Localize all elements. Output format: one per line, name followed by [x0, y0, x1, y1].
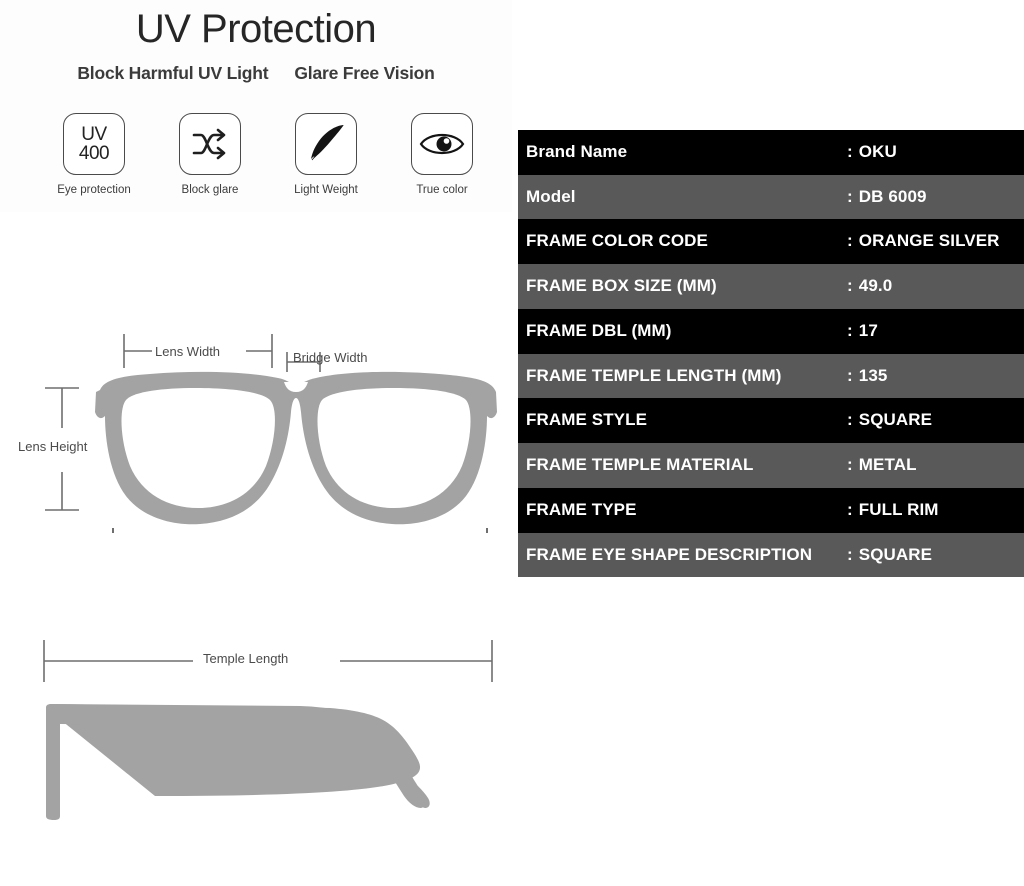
spec-value-text: METAL	[859, 455, 917, 474]
spec-label: FRAME BOX SIZE (MM)	[518, 264, 847, 309]
frame-specification-table: Brand Name :OKU Model :DB 6009 FRAME COL…	[518, 130, 1024, 577]
feature-caption-true-color: True color	[416, 184, 467, 196]
eye-icon	[411, 113, 473, 175]
colon-separator: :	[847, 500, 853, 521]
spec-label: FRAME TEMPLE MATERIAL	[518, 443, 847, 488]
spec-value: :METAL	[847, 443, 1024, 488]
spec-value-text: FULL RIM	[859, 500, 939, 519]
colon-separator: :	[847, 410, 853, 431]
spec-value-text: SQUARE	[859, 545, 932, 564]
edge-tick-marks	[112, 528, 488, 533]
uv400-icon-text: UV 400	[79, 125, 109, 163]
spec-label: FRAME TYPE	[518, 488, 847, 533]
feature-block-glare: Block glare	[170, 113, 250, 196]
spec-value-text: ORANGE SILVER	[859, 231, 1000, 250]
feature-true-color: True color	[402, 113, 482, 196]
colon-separator: :	[847, 142, 853, 163]
spec-label: FRAME COLOR CODE	[518, 219, 847, 264]
spec-value-text: 49.0	[859, 276, 893, 295]
temple-length-label: Temple Length	[203, 651, 288, 666]
spec-label: Brand Name	[518, 130, 847, 175]
colon-separator: :	[847, 455, 853, 476]
colon-separator: :	[847, 321, 853, 342]
table-row: FRAME EYE SHAPE DESCRIPTION :SQUARE	[518, 533, 1024, 578]
feature-eye-protection: UV 400 Eye protection	[54, 113, 134, 196]
table-row: FRAME BOX SIZE (MM) :49.0	[518, 264, 1024, 309]
feature-caption-block-glare: Block glare	[182, 184, 239, 196]
feather-icon	[295, 113, 357, 175]
table-row: FRAME DBL (MM) :17	[518, 309, 1024, 354]
colon-separator: :	[847, 545, 853, 566]
spec-label: Model	[518, 175, 847, 220]
spec-value: :SQUARE	[847, 398, 1024, 443]
table-row: FRAME TYPE :FULL RIM	[518, 488, 1024, 533]
temple-measurement-diagram: Temple Length	[0, 620, 512, 886]
feature-caption-eye-protection: Eye protection	[57, 184, 131, 196]
spec-value-text: 17	[859, 321, 878, 340]
spec-value: :17	[847, 309, 1024, 354]
spec-value-text: OKU	[859, 142, 897, 161]
front-view-svg	[0, 300, 512, 560]
feature-icon-row: UV 400 Eye protection	[54, 113, 494, 196]
colon-separator: :	[847, 231, 853, 252]
lens-width-label: Lens Width	[155, 344, 220, 359]
spec-label: FRAME EYE SHAPE DESCRIPTION	[518, 533, 847, 578]
shuffle-arrows-icon	[179, 113, 241, 175]
front-view-measurement-diagram: Lens Width Bridge Width Lens Height	[0, 300, 512, 560]
spec-label: FRAME TEMPLE LENGTH (MM)	[518, 354, 847, 399]
spec-value: :FULL RIM	[847, 488, 1024, 533]
table-row: FRAME STYLE :SQUARE	[518, 398, 1024, 443]
feature-light-weight: Light Weight	[286, 113, 366, 196]
uv-protection-subtitles: Block Harmful UV Light Glare Free Vision	[0, 63, 512, 84]
colon-separator: :	[847, 276, 853, 297]
product-spec-infographic: UV Protection Block Harmful UV Light Gla…	[0, 0, 1024, 886]
feature-caption-light-weight: Light Weight	[294, 184, 358, 196]
spec-value: :49.0	[847, 264, 1024, 309]
colon-separator: :	[847, 187, 853, 208]
table-row: FRAME TEMPLE LENGTH (MM) :135	[518, 354, 1024, 399]
uv400-line-1: UV	[79, 125, 109, 144]
spec-value-text: DB 6009	[859, 187, 927, 206]
bridge-width-label: Bridge Width	[293, 350, 367, 365]
uv400-icon: UV 400	[63, 113, 125, 175]
left-illustration-panel: UV Protection Block Harmful UV Light Gla…	[0, 0, 512, 886]
colon-separator: :	[847, 366, 853, 387]
spec-table-body: Brand Name :OKU Model :DB 6009 FRAME COL…	[518, 130, 1024, 577]
subtitle-glare-free: Glare Free Vision	[294, 63, 434, 84]
spec-value: :DB 6009	[847, 175, 1024, 220]
spec-value-text: SQUARE	[859, 410, 932, 429]
subtitle-block-uv: Block Harmful UV Light	[77, 63, 268, 84]
uv-protection-banner: UV Protection Block Harmful UV Light Gla…	[0, 0, 512, 212]
lens-height-label: Lens Height	[18, 439, 87, 454]
uv-protection-title: UV Protection	[0, 6, 512, 52]
table-row: Model :DB 6009	[518, 175, 1024, 220]
uv400-line-2: 400	[79, 144, 109, 163]
spec-value: :ORANGE SILVER	[847, 219, 1024, 264]
spec-label: FRAME STYLE	[518, 398, 847, 443]
spec-label: FRAME DBL (MM)	[518, 309, 847, 354]
spec-value: :OKU	[847, 130, 1024, 175]
table-row: Brand Name :OKU	[518, 130, 1024, 175]
spec-value: :SQUARE	[847, 533, 1024, 578]
table-row: FRAME TEMPLE MATERIAL :METAL	[518, 443, 1024, 488]
table-row: FRAME COLOR CODE :ORANGE SILVER	[518, 219, 1024, 264]
spec-value: :135	[847, 354, 1024, 399]
spec-value-text: 135	[859, 366, 888, 385]
